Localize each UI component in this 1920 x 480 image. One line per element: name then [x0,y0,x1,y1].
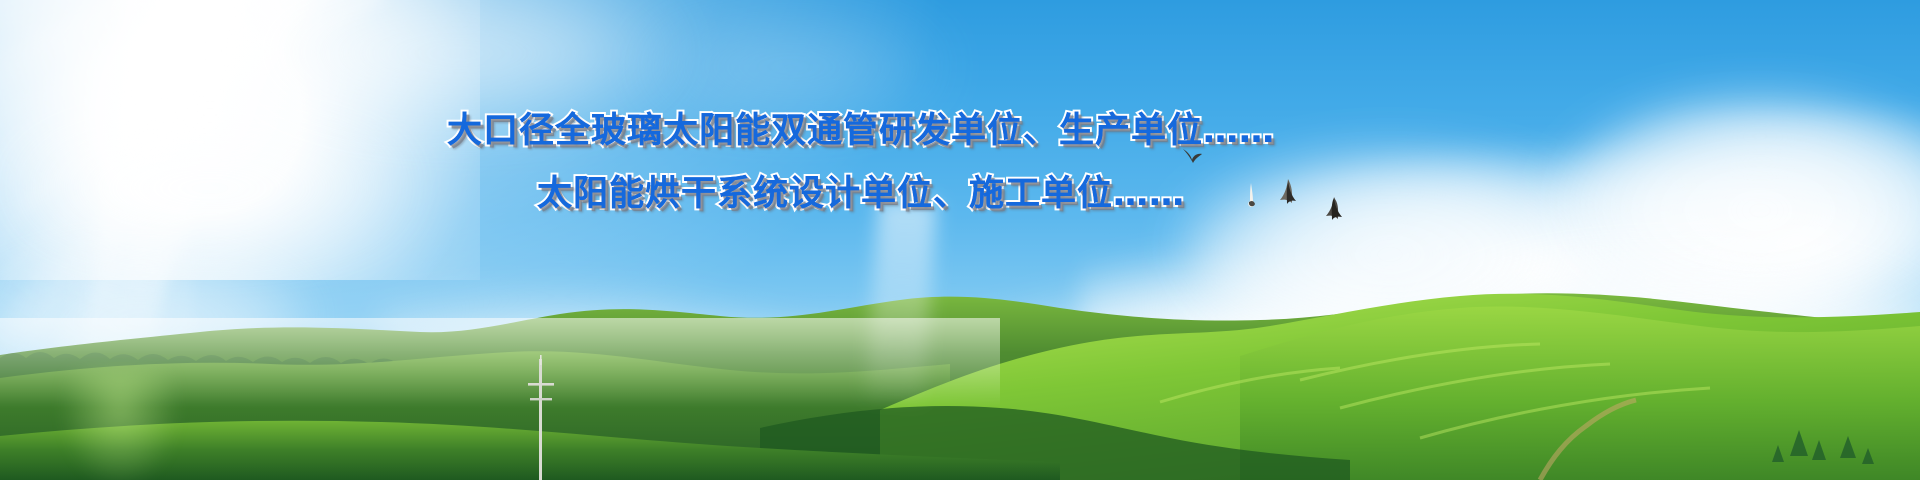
cloud-wisp-2 [20,130,400,240]
bird-icon [1276,178,1302,208]
light-shaft-on-hill-2 [60,370,180,480]
landscape [0,260,1920,480]
utility-pole [524,355,558,480]
bird-icon [1180,145,1206,171]
bird-icon [1320,195,1348,225]
bird-icon [1243,182,1261,210]
cloud-wisp-3 [640,25,940,105]
hero-banner: 大口径全玻璃太阳能双通管研发单位、生产单位…… 太阳能烘干系统设计单位、施工单位… [0,0,1920,480]
cloud-wisp-1 [250,0,670,110]
